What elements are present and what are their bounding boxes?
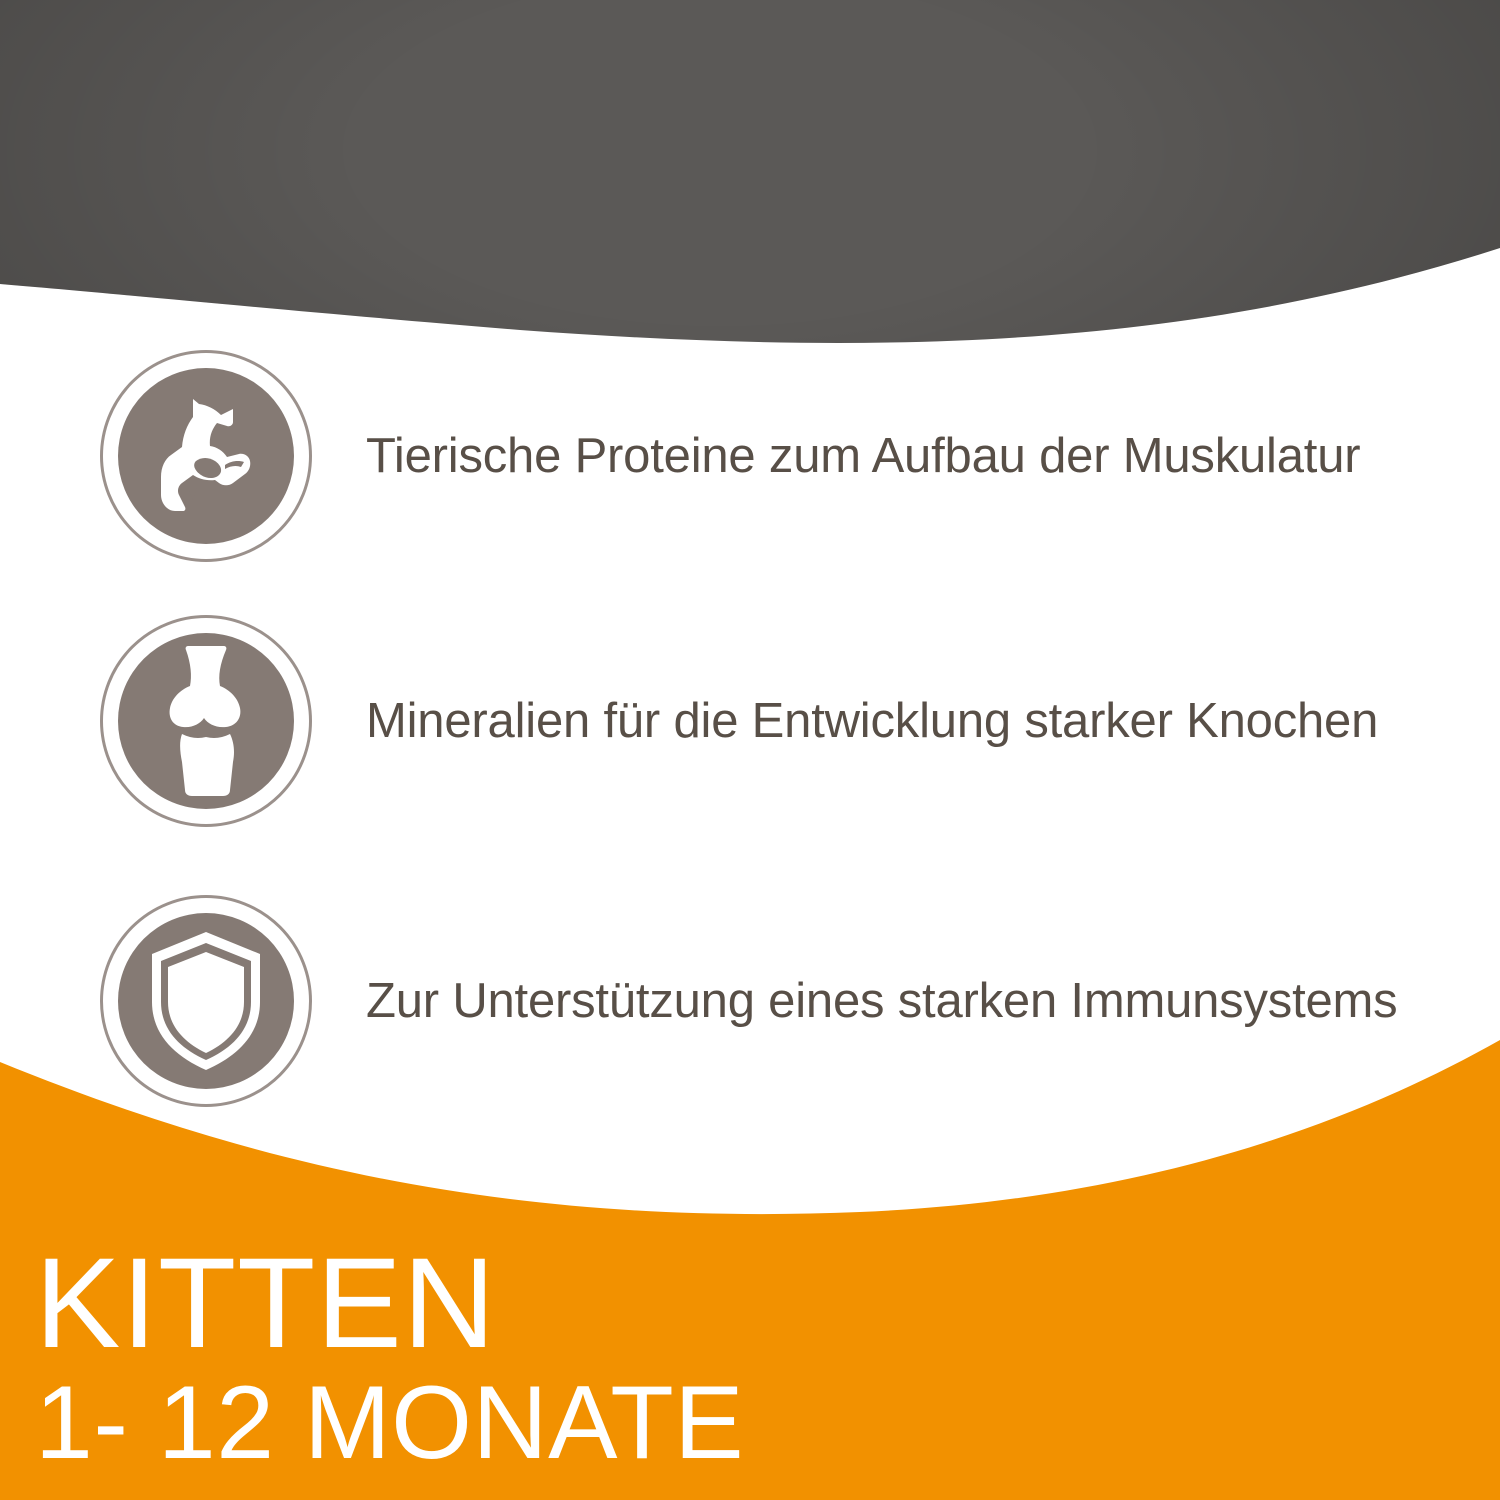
hero-image bbox=[0, 0, 1500, 345]
hero-vignette bbox=[0, 0, 1500, 345]
feature-item-label: Zur Unterstützung eines starken Immunsys… bbox=[366, 969, 1397, 1034]
age-banner-text: KITTEN 1- 12 MONATE bbox=[35, 1245, 744, 1475]
banner-title: KITTEN bbox=[35, 1245, 744, 1363]
banner-subtitle: 1- 12 MONATE bbox=[35, 1371, 744, 1475]
feature-item-minerals: Mineralien für die Entwicklung starker K… bbox=[100, 615, 1378, 827]
feature-item-protein: Tierische Proteine zum Aufbau der Muskul… bbox=[100, 350, 1360, 562]
feature-item-immune: Zur Unterstützung eines starken Immunsys… bbox=[100, 895, 1397, 1107]
bone-joint-icon bbox=[100, 615, 312, 827]
cat-muscle-glyph bbox=[141, 391, 271, 521]
hero-image-clip bbox=[0, 0, 1500, 345]
product-feature-panel: Tierische Proteine zum Aufbau der Muskul… bbox=[0, 0, 1500, 1500]
shield-icon bbox=[100, 895, 312, 1107]
shield-glyph bbox=[148, 930, 264, 1072]
feature-item-label: Tierische Proteine zum Aufbau der Muskul… bbox=[366, 424, 1360, 489]
cat-muscle-icon bbox=[100, 350, 312, 562]
feature-item-label: Mineralien für die Entwicklung starker K… bbox=[366, 689, 1378, 754]
bone-joint-glyph bbox=[146, 642, 266, 800]
